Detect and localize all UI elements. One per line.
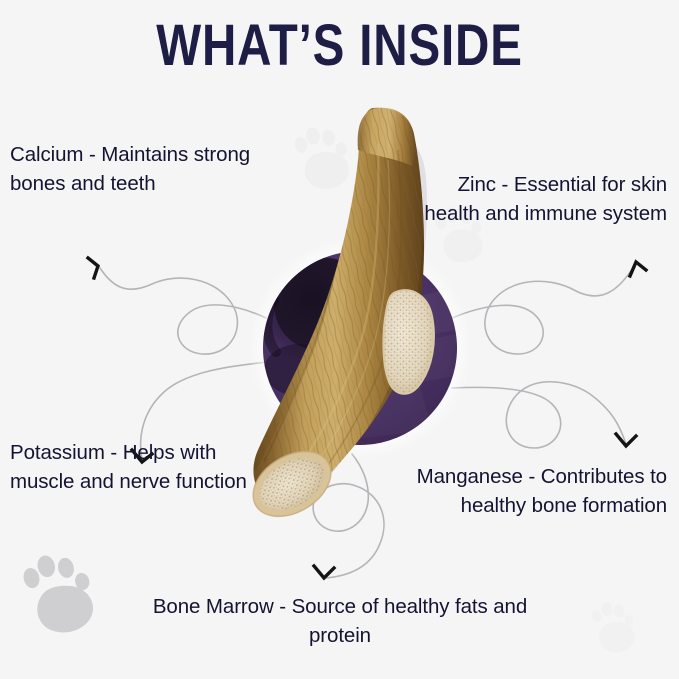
- arrowhead-bone-marrow: [314, 566, 334, 578]
- callout-calcium: Calcium - Maintains strong bones and tee…: [10, 140, 278, 198]
- callout-zinc: Zinc - Essential for skin health and imm…: [417, 170, 667, 228]
- callout-bone-marrow: Bone Marrow - Source of healthy fats and…: [150, 592, 530, 650]
- arrow-line-manganese: [452, 382, 626, 448]
- paw-watermark-bottom-right: [590, 598, 639, 656]
- paw-watermark-top-left: [292, 121, 354, 194]
- arrowhead-calcium: [88, 258, 98, 278]
- product-illustration: [0, 0, 679, 679]
- callout-manganese: Manganese - Contributes to healthy bone …: [395, 462, 667, 520]
- arrow-line-zinc: [452, 266, 634, 354]
- page-title: WHAT’S INSIDE: [61, 12, 618, 79]
- infographic-canvas: WHAT’S INSIDE Calcium - Maintains strong…: [0, 0, 679, 679]
- arrowhead-manganese: [616, 434, 636, 446]
- callout-potassium: Potassium - Helps with muscle and nerve …: [10, 438, 260, 496]
- arrowhead-zinc: [630, 262, 646, 276]
- paw-watermark-bottom-left: [19, 546, 100, 639]
- arrow-line-calcium: [100, 268, 266, 354]
